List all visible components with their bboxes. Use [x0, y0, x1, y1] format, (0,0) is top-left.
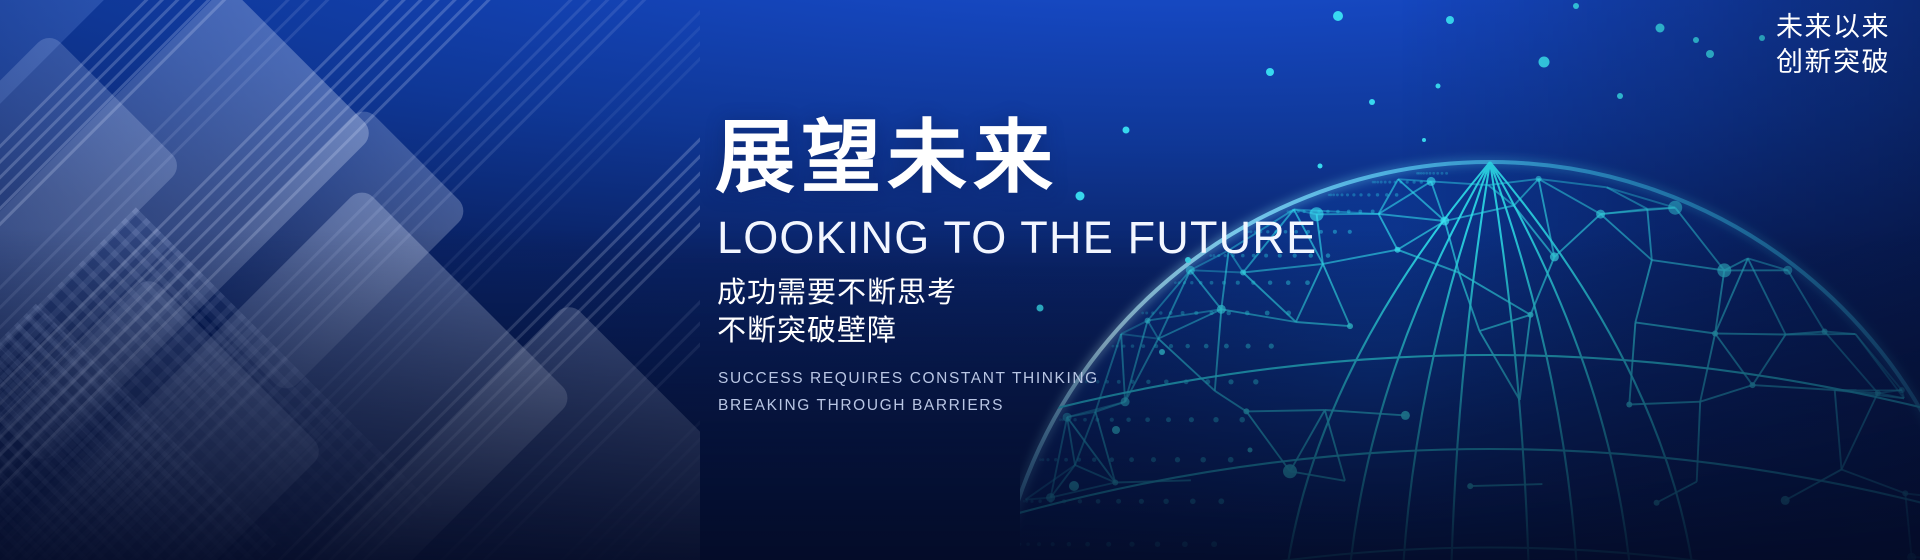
- subtitle-en-line-1: SUCCESS REQUIRES CONSTANT THINKING: [718, 365, 1355, 392]
- geo-quad-2: [0, 31, 184, 448]
- halftone-grid-2: [0, 304, 276, 560]
- geo-quad-6: [180, 105, 470, 395]
- diagonal-line-subgroup: [0, 0, 325, 315]
- subtitle-english: SUCCESS REQUIRES CONSTANT THINKING BREAK…: [718, 365, 1355, 419]
- diagonal-line-subgroup: [0, 0, 325, 315]
- geo-quad-4: [0, 275, 325, 560]
- slogan-line-2: 创新突破: [1776, 45, 1890, 80]
- subtitle-chinese: 成功需要不断思考 不断突破壁障: [717, 274, 1355, 351]
- diagonal-line-subgroup: [0, 0, 325, 315]
- page-title: 展望未来: [715, 118, 1355, 198]
- diagonal-line-subgroup: [0, 0, 325, 315]
- diagonal-line-subgroup: [0, 0, 325, 315]
- diagonal-line-group: [0, 0, 700, 560]
- geo-quad-1: [0, 0, 375, 465]
- diagonal-line-subgroup: [0, 0, 325, 315]
- hero-copy: 展望未来 LOOKING TO THE FUTURE 成功需要不断思考 不断突破…: [715, 118, 1355, 419]
- geo-quad-5: [131, 301, 700, 560]
- right-vignette: [1400, 0, 1920, 560]
- page-title-english: LOOKING TO THE FUTURE: [717, 214, 1355, 262]
- diagonal-line-subgroup: [0, 0, 325, 315]
- diagonal-geometric-pattern: [0, 0, 700, 560]
- slogan-line-1: 未来以来: [1776, 10, 1890, 45]
- diagonal-line-subgroup: [0, 0, 325, 315]
- diagonal-line-subgroup: [0, 0, 325, 315]
- subtitle-cn-line-1: 成功需要不断思考: [717, 274, 1355, 313]
- subtitle-cn-line-2: 不断突破壁障: [717, 312, 1355, 351]
- halftone-grid-1: [0, 207, 433, 560]
- hero-banner: 未来以来 创新突破 展望未来 LOOKING TO THE FUTURE 成功需…: [0, 0, 1920, 560]
- geo-quad-7: [0, 0, 128, 188]
- corner-slogan: 未来以来 创新突破: [1776, 10, 1890, 80]
- geo-quad-3: [0, 186, 574, 560]
- subtitle-en-line-2: BREAKING THROUGH BARRIERS: [718, 392, 1355, 419]
